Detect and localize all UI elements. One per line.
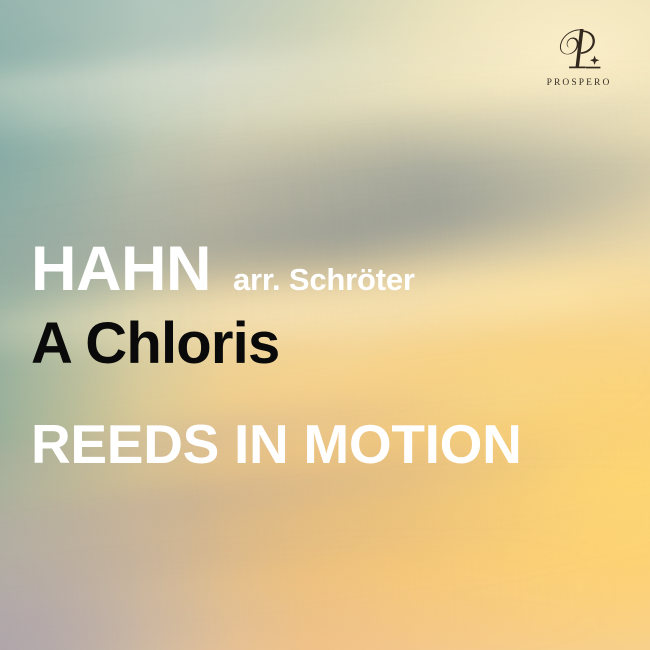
work-title: A Chloris bbox=[31, 315, 623, 373]
prospero-logo: PROSPERO bbox=[532, 26, 624, 89]
prospero-p-monogram-icon bbox=[547, 26, 609, 76]
album-cover: PROSPERO HAHN arr. Schröter A Chloris RE… bbox=[0, 0, 650, 650]
prospero-wordmark: PROSPERO bbox=[545, 79, 612, 89]
ensemble-name: REEDS IN MOTION bbox=[31, 417, 623, 472]
composer-line: HAHN arr. Schröter bbox=[31, 238, 623, 300]
arranger-credit: arr. Schröter bbox=[233, 264, 415, 295]
cover-title-block: HAHN arr. Schröter A Chloris REEDS IN MO… bbox=[31, 238, 623, 472]
composer-name: HAHN bbox=[31, 238, 211, 301]
